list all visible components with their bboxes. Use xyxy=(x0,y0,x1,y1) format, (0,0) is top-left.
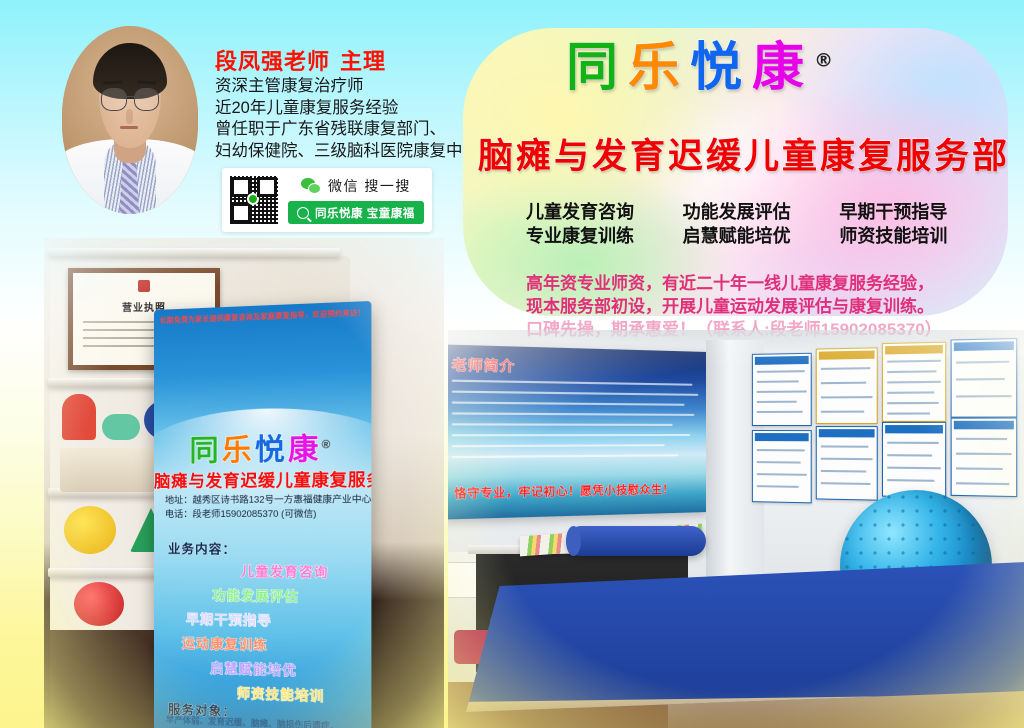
instructor-name-line: 段凤强老师主理 xyxy=(215,44,386,76)
wall-poster-tagline: 恪守专业，牢记初心！愿凭小技慰众生！ xyxy=(454,481,674,502)
portrait-glasses-right xyxy=(134,88,159,111)
wall-chart xyxy=(882,342,946,422)
brand-char: 乐 xyxy=(628,38,690,98)
service-row: 儿童发育咨询 功能发展评估 早期干预指导 xyxy=(526,200,996,224)
banner-service-item: 早期干预指导 xyxy=(186,609,272,630)
portrait-eyebrow-right xyxy=(137,80,156,84)
banner-top-strip: 长期免费为家长提供康复咨询及家庭康复指导，欢迎预约来访！ xyxy=(158,308,367,326)
photo-therapy-room: 老师简介 恪守专业，牢记初心！愿凭小技慰众生！ xyxy=(448,330,1024,728)
banner-phone: 电话：段老师15902085370 (可微信) xyxy=(165,507,371,521)
license-seal xyxy=(138,280,150,292)
wechat-card-body: 微信 搜一搜 同乐悦康 宝童康福 xyxy=(288,176,424,224)
credential-line: 妇幼保健院、三级脑科医院康复中心 xyxy=(215,141,479,163)
banner-service-item: 师资技能培训 xyxy=(237,683,325,705)
audience-line: 早产体弱、发育迟缓、脑瘫、脑损伤后遗症， xyxy=(166,714,359,728)
brand-logo: 同乐悦康® xyxy=(566,42,833,94)
instructor-credentials: 资深主管康复治疗师 近20年儿童康复服务经验 曾任职于广东省残联康复部门、 妇幼… xyxy=(215,76,479,162)
banner-service-item: 儿童发育咨询 xyxy=(241,561,329,581)
cylinder-roller xyxy=(566,526,706,556)
wall-poster-instructor-bio: 老师简介 恪守专业，牢记初心！愿凭小技慰众生！ xyxy=(448,344,708,519)
instructor-role: 主理 xyxy=(340,49,386,74)
therapy-mat-table xyxy=(466,562,1024,712)
service-item: 早期干预指导 xyxy=(839,200,996,224)
banner-service-item: 功能发展评估 xyxy=(212,585,299,606)
portrait-nose xyxy=(126,109,133,124)
toy-green xyxy=(102,414,140,440)
wall-chart xyxy=(752,353,812,426)
banner-logo-char: 康 xyxy=(288,433,322,466)
brand-char: 康 xyxy=(752,38,814,98)
toy-red xyxy=(62,394,96,440)
toy-ball-yellow xyxy=(64,506,116,554)
service-item: 专业康复训练 xyxy=(526,224,683,248)
service-item: 师资技能培训 xyxy=(839,224,996,248)
banner-logo-char: 同 xyxy=(189,435,221,468)
search-icon xyxy=(297,207,309,219)
qr-code-icon[interactable] xyxy=(230,176,278,224)
banner-services-heading: 业务内容： xyxy=(168,538,236,558)
rollup-banner: 长期免费为家长提供康复咨询及家庭康复指导，欢迎预约来访！ 同乐悦康® 脑瘫与发育… xyxy=(154,301,371,728)
wall-chart xyxy=(752,430,812,503)
wall-poster-heading: 老师简介 xyxy=(452,353,515,375)
service-grid: 儿童发育咨询 功能发展评估 早期干预指导 专业康复训练 启慧赋能培优 师资技能培… xyxy=(526,200,996,248)
poster-canvas: 段凤强老师主理 资深主管康复治疗师 近20年儿童康复服务经验 曾任职于广东省残联… xyxy=(0,0,1024,728)
wall-chart xyxy=(882,422,946,498)
banner-contact: 地址：越秀区诗书路132号一方惠福健康产业中心 607 室 电话：段老师1590… xyxy=(165,493,371,521)
wall-chart-grid xyxy=(748,337,1024,510)
service-row: 专业康复训练 启慧赋能培优 师资技能培训 xyxy=(526,224,996,248)
toy-ball-red xyxy=(74,582,124,626)
wall-chart xyxy=(951,338,1018,418)
wall-chart xyxy=(816,347,878,424)
shelf-board xyxy=(48,248,340,257)
portrait-eyebrow-left xyxy=(103,80,122,84)
credential-line: 资深主管康复治疗师 xyxy=(215,76,479,98)
portrait-mouth xyxy=(120,126,138,129)
wechat-card-header: 微信 搜一搜 xyxy=(288,176,424,196)
wechat-title: 微信 搜一搜 xyxy=(328,176,411,196)
wechat-search-keyword: 同乐悦康 宝童康福 xyxy=(315,205,415,221)
banner-logo: 同乐悦康® xyxy=(154,424,371,470)
brand-char: 同 xyxy=(566,38,628,98)
instructor-name: 段凤强老师 xyxy=(215,49,330,74)
wall-chart xyxy=(951,418,1018,498)
portrait-glasses-left xyxy=(101,88,126,111)
header-subtitle: 脑瘫与发育迟缓儿童康复服务部 xyxy=(478,128,1010,179)
wechat-search-card[interactable]: 微信 搜一搜 同乐悦康 宝童康福 xyxy=(222,168,432,232)
service-item: 功能发展评估 xyxy=(683,200,840,224)
banner-registered-mark: ® xyxy=(322,439,334,452)
wechat-icon xyxy=(301,178,321,194)
wechat-search-button[interactable]: 同乐悦康 宝童康福 xyxy=(288,201,424,224)
credential-line: 近20年儿童康复服务经验 xyxy=(215,98,479,120)
credential-line: 曾任职于广东省残联康复部门、 xyxy=(215,119,479,141)
registered-mark: ® xyxy=(814,50,833,72)
banner-service-item: 启慧赋能培优 xyxy=(210,658,297,680)
brand-char: 悦 xyxy=(690,38,752,98)
service-item: 儿童发育咨询 xyxy=(526,200,683,224)
banner-service-item: 运动康复训练 xyxy=(182,633,268,654)
portrait-glasses-bridge xyxy=(125,96,136,98)
banner-address: 地址：越秀区诗书路132号一方惠福健康产业中心 607 室 xyxy=(165,493,371,508)
photo-consultation-room: 营业执照 长期免费为家长提供康复咨询及家庭康复指导，欢迎预约来访！ 同乐悦康® … xyxy=(44,238,444,728)
banner-audience-text: 早产体弱、发育迟缓、脑瘫、脑损伤后遗症， 以及其他缺血缺氧性脑病导致的中枢发育异… xyxy=(166,714,359,728)
service-item: 启慧赋能培优 xyxy=(683,224,840,248)
instructor-photo xyxy=(62,26,198,214)
banner-logo-char: 乐 xyxy=(222,434,255,467)
banner-subtitle: 脑瘫与发育迟缓儿童康复服务部 xyxy=(154,466,371,492)
description-line: 现本服务部初设，开展儿童运动发展评估与康复训练。 xyxy=(526,295,1006,318)
description-line: 高年资专业师资，有近二十年一线儿童康复服务经验， xyxy=(526,272,1006,295)
banner-logo-char: 悦 xyxy=(255,434,288,467)
